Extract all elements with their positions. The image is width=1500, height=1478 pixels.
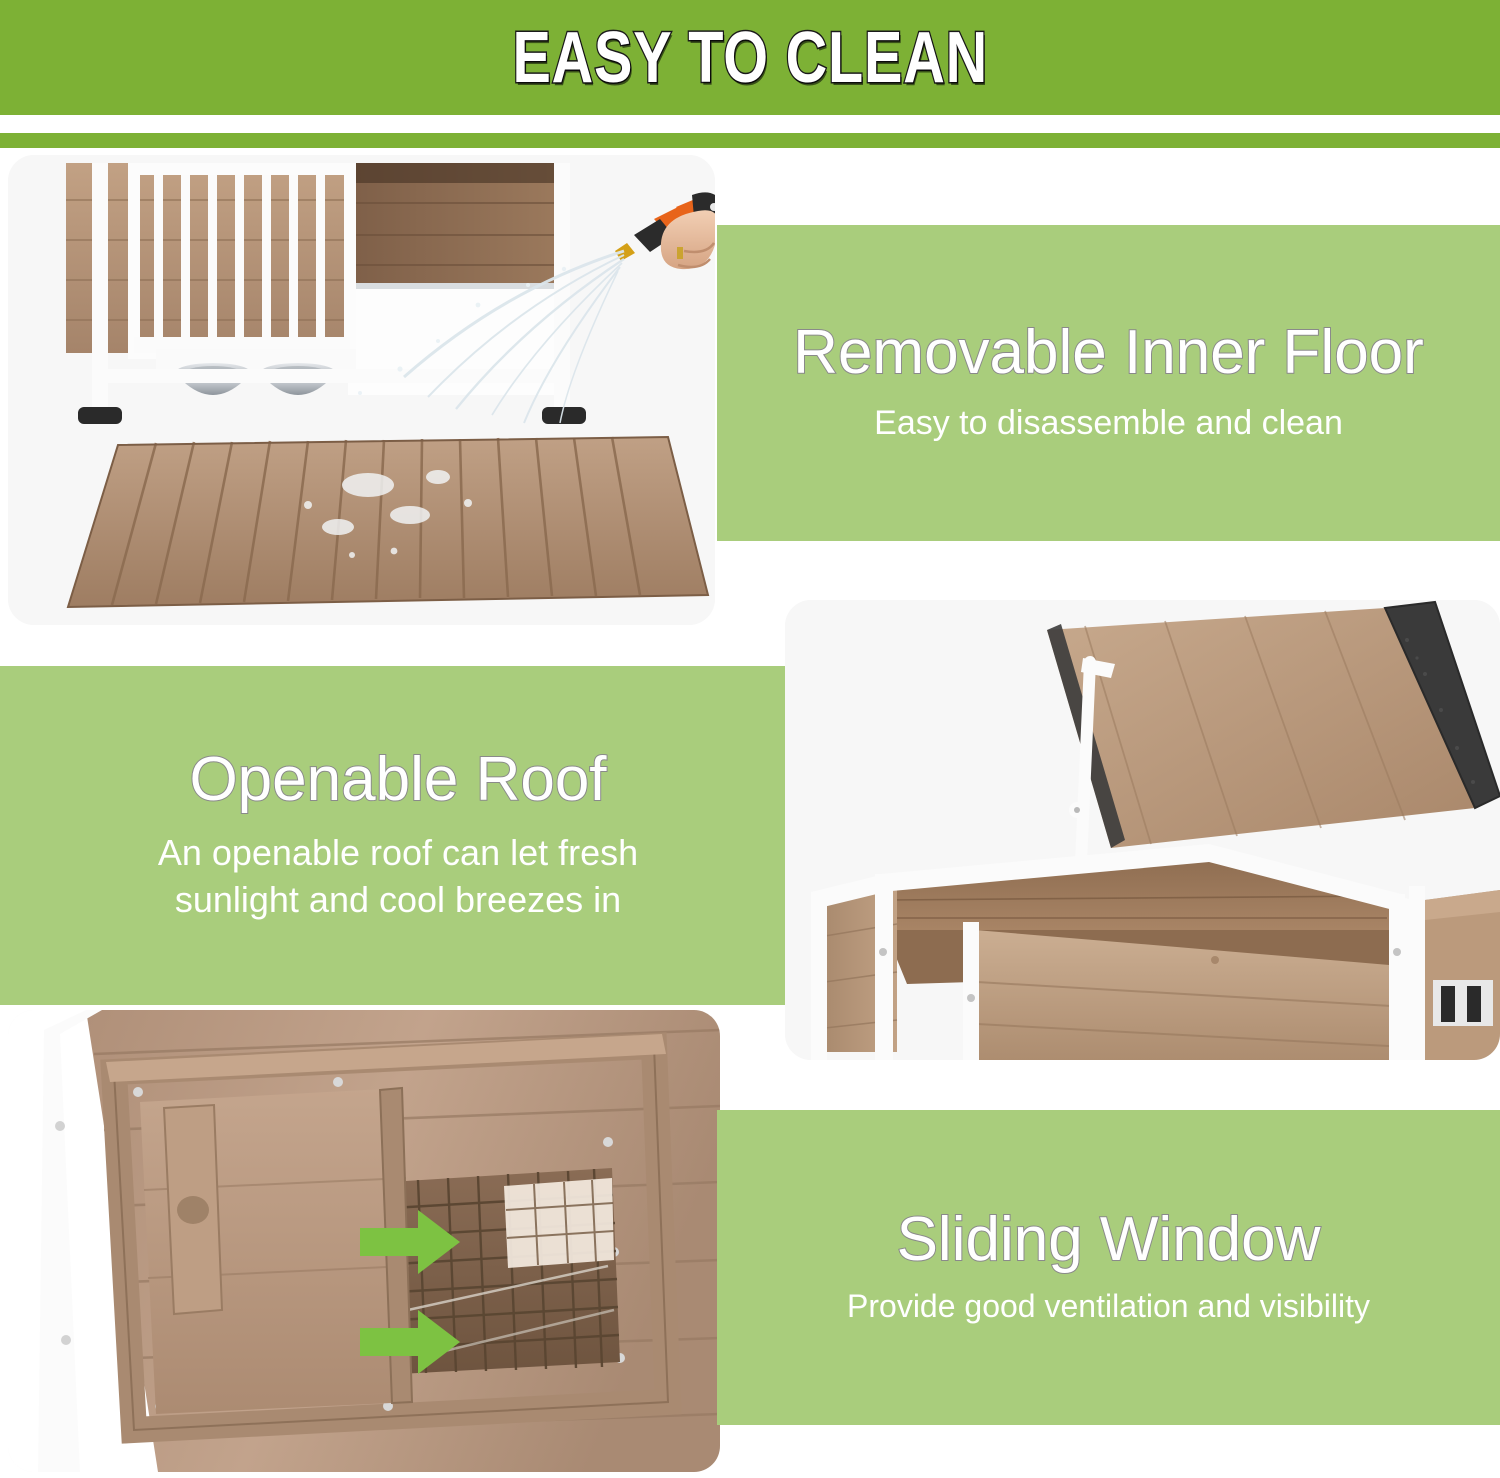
feature-panel-removable-inner-floor: Removable Inner Floor Easy to disassembl… bbox=[717, 225, 1500, 541]
removable-inner-floor-panel bbox=[68, 437, 708, 607]
header-banner: EASY TO CLEAN bbox=[0, 0, 1500, 115]
feature-title-openable-roof: Openable Roof bbox=[189, 747, 606, 814]
photo-openable-roof bbox=[785, 600, 1500, 1060]
openable-roof-illustration bbox=[785, 600, 1500, 1060]
feature-title-removable-inner-floor: Removable Inner Floor bbox=[793, 320, 1424, 387]
feature-panel-openable-roof: Openable Roof An openable roof can let f… bbox=[0, 666, 786, 1005]
feature-subtitle-sliding-window: Provide good ventilation and visibility bbox=[847, 1286, 1370, 1328]
removable-floor-illustration bbox=[8, 155, 715, 625]
photo-sliding-window bbox=[8, 1010, 720, 1472]
feature-subtitle-openable-roof-line2: sunlight and cool breezes in bbox=[175, 877, 621, 924]
feature-panel-sliding-window: Sliding Window Provide good ventilation … bbox=[717, 1110, 1500, 1425]
openable-roof-panel bbox=[1047, 602, 1500, 848]
header-accent-stripe bbox=[0, 133, 1500, 148]
feature-subtitle-openable-roof-line1: An openable roof can let fresh bbox=[158, 830, 638, 877]
photo-removable-inner-floor bbox=[8, 155, 715, 625]
page-title: EASY TO CLEAN bbox=[512, 17, 988, 99]
sliding-window-illustration bbox=[8, 1010, 720, 1472]
feature-subtitle-removable-inner-floor: Easy to disassemble and clean bbox=[874, 401, 1343, 445]
feature-title-sliding-window: Sliding Window bbox=[897, 1207, 1321, 1274]
